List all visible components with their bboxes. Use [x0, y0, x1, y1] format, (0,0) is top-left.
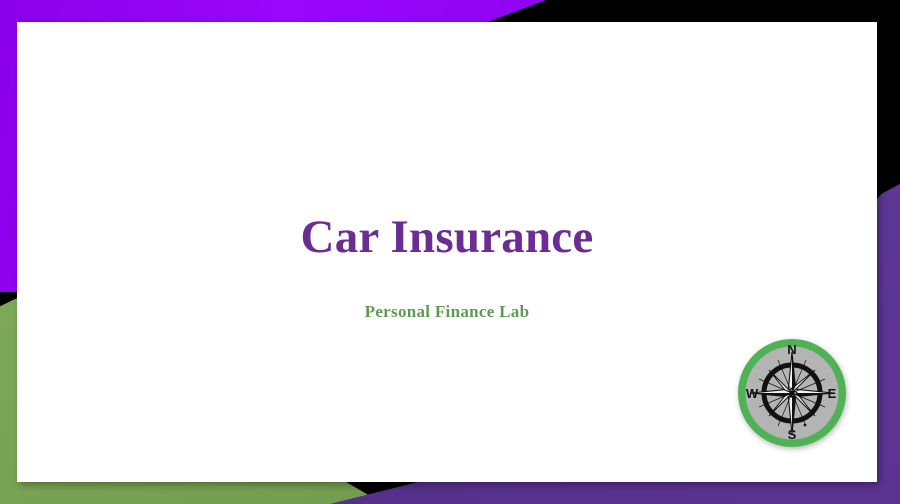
compass-label-east: E — [828, 386, 837, 401]
compass-mark-dot — [804, 424, 807, 427]
compass-icon: N E S W — [735, 336, 849, 450]
presentation-slide: Car Insurance Personal Finance Lab — [0, 0, 900, 504]
title-block: Car Insurance Personal Finance Lab — [17, 212, 877, 322]
slide-subtitle: Personal Finance Lab — [17, 264, 877, 322]
compass-center-hub — [789, 390, 794, 395]
compass-label-west: W — [746, 386, 759, 401]
compass-label-north: N — [787, 342, 796, 357]
compass-logo: N E S W — [735, 336, 849, 450]
compass-label-south: S — [788, 427, 797, 442]
slide-title: Car Insurance — [17, 212, 877, 264]
